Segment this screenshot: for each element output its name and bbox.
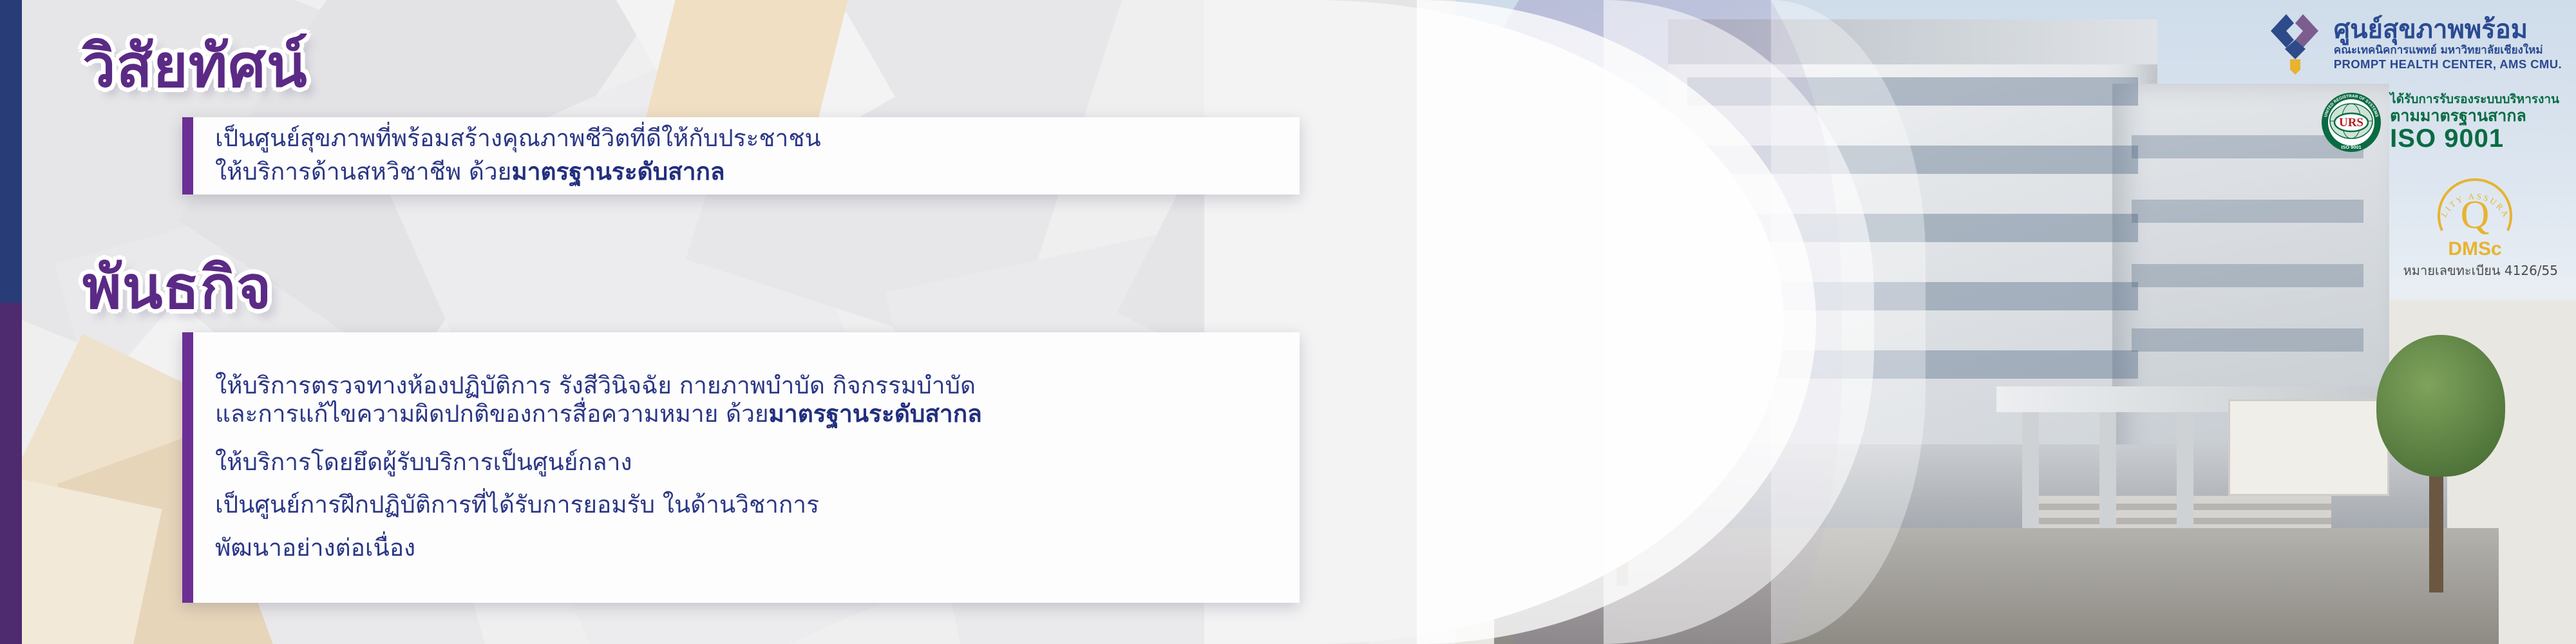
vision-line-1: เป็นศูนย์สุขภาพที่พร้อมสร้างคุณภาพชีวิตท… <box>215 124 821 153</box>
iso-line-2: ตามมาตรฐานสากล <box>2390 107 2526 126</box>
iso-line-1: ได้รับการรับรองระบบบริหารงาน <box>2390 93 2559 107</box>
mission-item-1: ให้บริการตรวจทางห้องปฏิบัติการ รังสีวินิ… <box>215 372 982 400</box>
brand-lockup: ศูนย์สุขภาพพร้อม คณะเทคนิคการแพทย์ มหาวิ… <box>2266 10 2562 77</box>
mission-item-2-emphasis: มาตรฐานระดับสากล <box>769 400 982 428</box>
registration-number: หมายเลขทะเบียน 4126/55 <box>2403 260 2558 281</box>
mission-item-3: ให้บริการโดยยึดผู้รับบริการเป็นศูนย์กลาง <box>215 448 982 477</box>
vision-line-2-emphasis: มาตรฐานระดับสากล <box>511 158 724 185</box>
iso-line-3: ISO 9001 <box>2390 125 2504 152</box>
vision-line-2: ให้บริการด้านสหวิชาชีพ ด้วยมาตรฐานระดับส… <box>215 158 821 186</box>
mission-heading: พันธกิจ <box>82 240 272 334</box>
mission-item-4: เป็นศูนย์การฝึกปฏิบัติการที่ได้รับการยอม… <box>215 491 982 519</box>
urs-globe-seal-icon: URS UNITED REGISTRAR OF SYSTEMS ISO 9001 <box>2320 91 2382 153</box>
mission-item-2: และการแก้ไขความผิดปกติของการสื่อความหมาย… <box>215 400 982 428</box>
mission-item-5: พัฒนาอย่างต่อเนื่อง <box>215 534 982 562</box>
left-accent-bar-navy <box>0 0 22 303</box>
brand-name-th: ศูนย์สุขภาพพร้อม <box>2334 17 2562 43</box>
dmsc-quality-assurance-seal-icon: QUALITY ASSURANCE Q DMSc <box>2429 169 2521 260</box>
svg-text:Q: Q <box>2461 193 2490 237</box>
vision-mission-banner: วิสัยทัศน์ เป็นศูนย์สุขภาพที่พร้อมสร้างค… <box>0 0 2576 644</box>
svg-text:DMSc: DMSc <box>2448 238 2501 260</box>
vision-card: เป็นศูนย์สุขภาพที่พร้อมสร้างคุณภาพชีวิตท… <box>182 117 1300 194</box>
left-accent-bar-purple <box>0 303 22 644</box>
iso-9001-badge: URS UNITED REGISTRAR OF SYSTEMS ISO 9001… <box>2320 91 2559 153</box>
brand-name-en: PROMPT HEALTH CENTER, AMS CMU. <box>2334 57 2562 71</box>
vision-card-tick <box>182 117 193 194</box>
vision-heading: วิสัยทัศน์ <box>82 18 308 113</box>
prompt-health-diamond-logo-icon <box>2266 10 2325 77</box>
brand-faculty-th: คณะเทคนิคการแพทย์ มหาวิทยาลัยเชียงใหม่ <box>2334 44 2562 57</box>
mission-card: ให้บริการตรวจทางห้องปฏิบัติการ รังสีวินิ… <box>182 332 1300 603</box>
mission-card-tick <box>182 332 193 603</box>
svg-text:URS: URS <box>2339 116 2363 129</box>
svg-text:ISO 9001: ISO 9001 <box>2342 144 2362 150</box>
